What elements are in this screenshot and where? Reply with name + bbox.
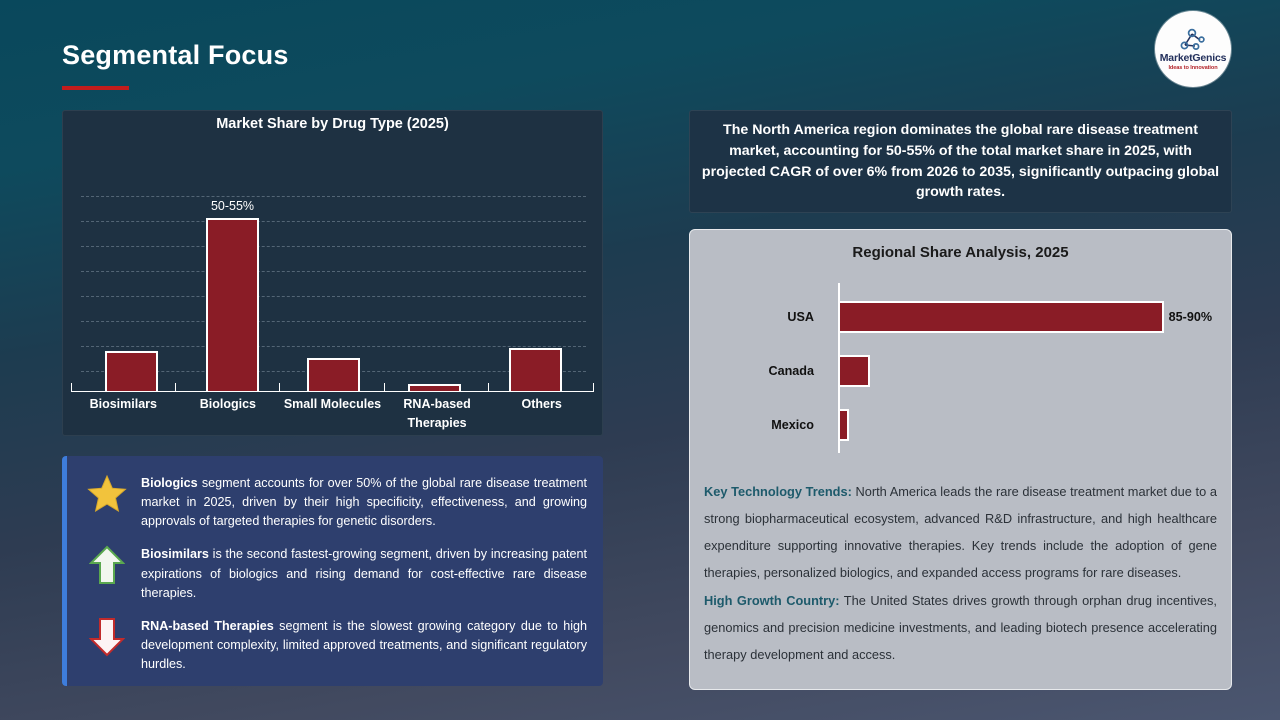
category-label: Biosimilars	[71, 395, 176, 434]
bar-column	[283, 191, 384, 391]
bar-plot-area: 50-55%	[81, 191, 586, 391]
regional-analysis-panel: Regional Share Analysis, 2025 USACanadaM…	[689, 229, 1232, 690]
note-paragraph: Key Technology Trends: North America lea…	[704, 479, 1217, 586]
insight-item: RNA-based Therapies segment is the slowe…	[85, 617, 587, 674]
page-title: Segmental Focus	[62, 40, 289, 71]
insight-text: RNA-based Therapies segment is the slowe…	[141, 617, 587, 674]
insight-lead: Biologics	[141, 476, 198, 490]
insight-lead: Biosimilars	[141, 547, 209, 561]
arrow-down-icon	[85, 617, 129, 657]
bar-group: 50-55%	[206, 218, 259, 391]
note-paragraph: High Growth Country: The United States d…	[704, 588, 1217, 669]
logo-name: MarketGenics	[1160, 53, 1226, 64]
bar	[840, 409, 849, 441]
y-axis-category-labels: USACanadaMexico	[700, 275, 822, 465]
regional-bar-chart: USACanadaMexico 85-90%	[700, 275, 1221, 465]
note-lead: High Growth Country:	[704, 593, 840, 608]
insight-item: Biosimilars is the second fastest-growin…	[85, 545, 587, 602]
bar-value-label: 50-55%	[211, 199, 254, 213]
title-underline-rule	[62, 86, 129, 90]
bar-column	[81, 191, 182, 391]
insight-text: Biologics segment accounts for over 50% …	[141, 474, 587, 531]
callout-text: The North America region dominates the g…	[698, 120, 1223, 202]
axis-tick	[176, 383, 281, 392]
logo-tagline: Ideas to Innovation	[1168, 65, 1217, 71]
north-america-callout: The North America region dominates the g…	[689, 110, 1232, 213]
molecule-icon	[1178, 27, 1208, 53]
bar: 85-90%	[840, 301, 1164, 333]
bar-value-label: 85-90%	[1169, 310, 1212, 324]
arrow-up-icon	[85, 545, 129, 585]
regional-chart-title: Regional Share Analysis, 2025	[700, 244, 1221, 261]
brand-logo: MarketGenics Ideas to Innovation	[1155, 11, 1231, 87]
note-lead: Key Technology Trends:	[704, 484, 852, 499]
bar	[206, 218, 259, 391]
insight-text: Biosimilars is the second fastest-growin…	[141, 545, 587, 602]
insight-body: segment accounts for over 50% of the glo…	[141, 476, 587, 528]
category-label: Mexico	[771, 418, 814, 432]
x-axis-category-labels: BiosimilarsBiologicsSmall MoleculesRNA-b…	[71, 395, 594, 434]
axis-tick	[385, 383, 490, 392]
category-label: USA	[787, 310, 814, 324]
axis-tick	[71, 383, 176, 392]
drug-type-chart-card: Market Share by Drug Type (2025) 50-55% …	[62, 110, 603, 436]
axis-tick	[280, 383, 385, 392]
category-label: Biologics	[176, 395, 281, 434]
bar-column	[384, 191, 485, 391]
x-axis-ticks	[71, 383, 594, 392]
drug-type-chart-title: Market Share by Drug Type (2025)	[63, 116, 602, 132]
star-icon	[85, 474, 129, 512]
insight-item: Biologics segment accounts for over 50% …	[85, 474, 587, 531]
bar-column: 50-55%	[182, 191, 283, 391]
regional-notes: Key Technology Trends: North America lea…	[700, 479, 1221, 669]
drug-type-bar-chart: 50-55%	[73, 191, 594, 391]
segment-insights-panel: Biologics segment accounts for over 50% …	[62, 456, 603, 686]
category-label: Small Molecules	[280, 395, 385, 434]
category-label: Others	[489, 395, 594, 434]
bar	[840, 355, 870, 387]
category-label: RNA-based Therapies	[385, 395, 490, 434]
bar-column	[485, 191, 586, 391]
axis-tick	[489, 383, 594, 392]
category-label: Canada	[769, 364, 815, 378]
insight-lead: RNA-based Therapies	[141, 619, 274, 633]
